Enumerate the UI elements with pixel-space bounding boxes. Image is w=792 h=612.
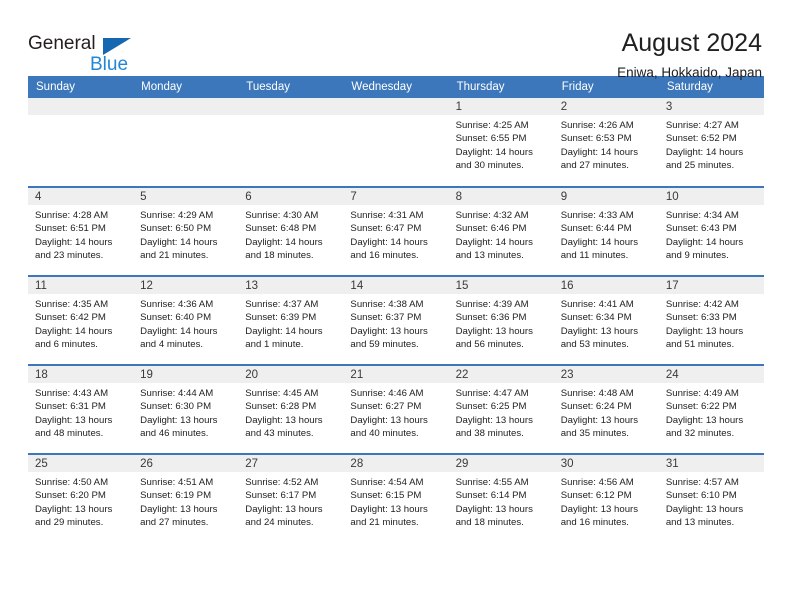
day-detail-line: Sunset: 6:30 PM bbox=[140, 400, 231, 413]
day-number: 19 bbox=[133, 366, 238, 383]
day-detail-line: Daylight: 14 hours bbox=[140, 325, 231, 338]
day-detail-line: Sunset: 6:28 PM bbox=[245, 400, 336, 413]
day-detail-line: Sunrise: 4:51 AM bbox=[140, 476, 231, 489]
day-details bbox=[238, 115, 343, 119]
day-detail-line: and 51 minutes. bbox=[666, 338, 757, 351]
day-detail-line: Sunset: 6:19 PM bbox=[140, 489, 231, 502]
day-detail-line: Daylight: 13 hours bbox=[140, 503, 231, 516]
day-number: 1 bbox=[449, 98, 554, 115]
day-detail-line: and 38 minutes. bbox=[456, 427, 547, 440]
day-detail-line: and 35 minutes. bbox=[561, 427, 652, 440]
day-details: Sunrise: 4:41 AMSunset: 6:34 PMDaylight:… bbox=[554, 294, 659, 351]
day-cell-29[interactable]: 29Sunrise: 4:55 AMSunset: 6:14 PMDayligh… bbox=[449, 454, 554, 543]
day-details: Sunrise: 4:32 AMSunset: 6:46 PMDaylight:… bbox=[449, 205, 554, 262]
day-details: Sunrise: 4:26 AMSunset: 6:53 PMDaylight:… bbox=[554, 115, 659, 172]
day-detail-line: and 27 minutes. bbox=[561, 159, 652, 172]
day-number: 26 bbox=[133, 455, 238, 472]
day-detail-line: Sunrise: 4:38 AM bbox=[350, 298, 441, 311]
day-number: 7 bbox=[343, 188, 448, 205]
day-details: Sunrise: 4:37 AMSunset: 6:39 PMDaylight:… bbox=[238, 294, 343, 351]
day-number: 25 bbox=[28, 455, 133, 472]
day-cell-4[interactable]: 4Sunrise: 4:28 AMSunset: 6:51 PMDaylight… bbox=[28, 187, 133, 276]
day-detail-line: Daylight: 13 hours bbox=[456, 325, 547, 338]
day-details: Sunrise: 4:35 AMSunset: 6:42 PMDaylight:… bbox=[28, 294, 133, 351]
day-detail-line: Sunset: 6:50 PM bbox=[140, 222, 231, 235]
day-cell-empty bbox=[133, 98, 238, 187]
day-details: Sunrise: 4:38 AMSunset: 6:37 PMDaylight:… bbox=[343, 294, 448, 351]
day-number: 6 bbox=[238, 188, 343, 205]
day-details: Sunrise: 4:25 AMSunset: 6:55 PMDaylight:… bbox=[449, 115, 554, 172]
day-detail-line: Sunrise: 4:36 AM bbox=[140, 298, 231, 311]
day-detail-line: and 21 minutes. bbox=[350, 516, 441, 529]
day-cell-31[interactable]: 31Sunrise: 4:57 AMSunset: 6:10 PMDayligh… bbox=[659, 454, 764, 543]
logo-triangle-icon bbox=[103, 38, 131, 55]
day-number: 17 bbox=[659, 277, 764, 294]
weekday-header-wednesday: Wednesday bbox=[343, 76, 448, 98]
day-number: 10 bbox=[659, 188, 764, 205]
day-detail-line: and 13 minutes. bbox=[666, 516, 757, 529]
day-details: Sunrise: 4:47 AMSunset: 6:25 PMDaylight:… bbox=[449, 383, 554, 440]
calendar-week-row: 25Sunrise: 4:50 AMSunset: 6:20 PMDayligh… bbox=[28, 454, 764, 543]
day-number: 23 bbox=[554, 366, 659, 383]
day-cell-12[interactable]: 12Sunrise: 4:36 AMSunset: 6:40 PMDayligh… bbox=[133, 276, 238, 365]
calendar-page: General Blue August 2024 Eniwa, Hokkaido… bbox=[0, 0, 792, 612]
day-detail-line: Sunset: 6:51 PM bbox=[35, 222, 126, 235]
day-cell-30[interactable]: 30Sunrise: 4:56 AMSunset: 6:12 PMDayligh… bbox=[554, 454, 659, 543]
day-detail-line: Sunset: 6:33 PM bbox=[666, 311, 757, 324]
day-detail-line: Sunrise: 4:50 AM bbox=[35, 476, 126, 489]
day-details: Sunrise: 4:39 AMSunset: 6:36 PMDaylight:… bbox=[449, 294, 554, 351]
day-detail-line: Sunrise: 4:42 AM bbox=[666, 298, 757, 311]
day-detail-line: Daylight: 14 hours bbox=[245, 325, 336, 338]
day-number: 29 bbox=[449, 455, 554, 472]
day-number: 4 bbox=[28, 188, 133, 205]
day-detail-line: Sunrise: 4:49 AM bbox=[666, 387, 757, 400]
day-cell-18[interactable]: 18Sunrise: 4:43 AMSunset: 6:31 PMDayligh… bbox=[28, 365, 133, 454]
day-detail-line: Sunset: 6:44 PM bbox=[561, 222, 652, 235]
day-details: Sunrise: 4:51 AMSunset: 6:19 PMDaylight:… bbox=[133, 472, 238, 529]
day-detail-line: Sunset: 6:42 PM bbox=[35, 311, 126, 324]
day-detail-line: Daylight: 14 hours bbox=[561, 146, 652, 159]
day-number: 11 bbox=[28, 277, 133, 294]
day-detail-line: Sunrise: 4:26 AM bbox=[561, 119, 652, 132]
day-detail-line: Sunset: 6:24 PM bbox=[561, 400, 652, 413]
day-detail-line: and 46 minutes. bbox=[140, 427, 231, 440]
day-details bbox=[28, 115, 133, 119]
day-detail-line: Sunset: 6:10 PM bbox=[666, 489, 757, 502]
day-cell-26[interactable]: 26Sunrise: 4:51 AMSunset: 6:19 PMDayligh… bbox=[133, 454, 238, 543]
day-detail-line: Daylight: 13 hours bbox=[456, 414, 547, 427]
calendar-week-row: 4Sunrise: 4:28 AMSunset: 6:51 PMDaylight… bbox=[28, 187, 764, 276]
day-detail-line: Sunrise: 4:45 AM bbox=[245, 387, 336, 400]
day-details: Sunrise: 4:52 AMSunset: 6:17 PMDaylight:… bbox=[238, 472, 343, 529]
day-detail-line: Sunset: 6:14 PM bbox=[456, 489, 547, 502]
day-detail-line: Daylight: 14 hours bbox=[561, 236, 652, 249]
day-detail-line: and 9 minutes. bbox=[666, 249, 757, 262]
day-number: 18 bbox=[28, 366, 133, 383]
day-details: Sunrise: 4:29 AMSunset: 6:50 PMDaylight:… bbox=[133, 205, 238, 262]
day-detail-line: and 40 minutes. bbox=[350, 427, 441, 440]
calendar-week-row: 18Sunrise: 4:43 AMSunset: 6:31 PMDayligh… bbox=[28, 365, 764, 454]
day-number: 8 bbox=[449, 188, 554, 205]
day-details: Sunrise: 4:50 AMSunset: 6:20 PMDaylight:… bbox=[28, 472, 133, 529]
day-cell-14[interactable]: 14Sunrise: 4:38 AMSunset: 6:37 PMDayligh… bbox=[343, 276, 448, 365]
day-number: 28 bbox=[343, 455, 448, 472]
day-cell-11[interactable]: 11Sunrise: 4:35 AMSunset: 6:42 PMDayligh… bbox=[28, 276, 133, 365]
day-detail-line: Daylight: 14 hours bbox=[245, 236, 336, 249]
day-detail-line: Sunset: 6:17 PM bbox=[245, 489, 336, 502]
day-cell-empty bbox=[238, 98, 343, 187]
day-detail-line: Daylight: 13 hours bbox=[561, 325, 652, 338]
day-details: Sunrise: 4:45 AMSunset: 6:28 PMDaylight:… bbox=[238, 383, 343, 440]
day-detail-line: Sunset: 6:46 PM bbox=[456, 222, 547, 235]
day-cell-6[interactable]: 6Sunrise: 4:30 AMSunset: 6:48 PMDaylight… bbox=[238, 187, 343, 276]
day-cell-empty bbox=[343, 98, 448, 187]
day-detail-line: Sunrise: 4:41 AM bbox=[561, 298, 652, 311]
day-detail-line: and 18 minutes. bbox=[456, 516, 547, 529]
day-cell-3[interactable]: 3Sunrise: 4:27 AMSunset: 6:52 PMDaylight… bbox=[659, 98, 764, 187]
day-number: 15 bbox=[449, 277, 554, 294]
day-detail-line: Daylight: 14 hours bbox=[666, 146, 757, 159]
day-cell-13[interactable]: 13Sunrise: 4:37 AMSunset: 6:39 PMDayligh… bbox=[238, 276, 343, 365]
day-detail-line: Sunset: 6:31 PM bbox=[35, 400, 126, 413]
day-detail-line: Daylight: 13 hours bbox=[561, 503, 652, 516]
day-detail-line: and 18 minutes. bbox=[245, 249, 336, 262]
calendar-week-row: 11Sunrise: 4:35 AMSunset: 6:42 PMDayligh… bbox=[28, 276, 764, 365]
day-number bbox=[133, 98, 238, 115]
day-cell-2[interactable]: 2Sunrise: 4:26 AMSunset: 6:53 PMDaylight… bbox=[554, 98, 659, 187]
day-cell-25[interactable]: 25Sunrise: 4:50 AMSunset: 6:20 PMDayligh… bbox=[28, 454, 133, 543]
day-detail-line: Sunset: 6:12 PM bbox=[561, 489, 652, 502]
day-detail-line: Sunset: 6:39 PM bbox=[245, 311, 336, 324]
day-cell-28[interactable]: 28Sunrise: 4:54 AMSunset: 6:15 PMDayligh… bbox=[343, 454, 448, 543]
day-cell-empty bbox=[28, 98, 133, 187]
day-detail-line: and 29 minutes. bbox=[35, 516, 126, 529]
day-detail-line: and 32 minutes. bbox=[666, 427, 757, 440]
day-detail-line: Sunrise: 4:31 AM bbox=[350, 209, 441, 222]
day-detail-line: Daylight: 13 hours bbox=[561, 414, 652, 427]
day-detail-line: Daylight: 14 hours bbox=[456, 236, 547, 249]
day-detail-line: Daylight: 13 hours bbox=[456, 503, 547, 516]
day-details: Sunrise: 4:34 AMSunset: 6:43 PMDaylight:… bbox=[659, 205, 764, 262]
day-cell-22[interactable]: 22Sunrise: 4:47 AMSunset: 6:25 PMDayligh… bbox=[449, 365, 554, 454]
day-details: Sunrise: 4:57 AMSunset: 6:10 PMDaylight:… bbox=[659, 472, 764, 529]
day-detail-line: and 6 minutes. bbox=[35, 338, 126, 351]
day-detail-line: Sunrise: 4:33 AM bbox=[561, 209, 652, 222]
day-detail-line: and 53 minutes. bbox=[561, 338, 652, 351]
calendar-container: SundayMondayTuesdayWednesdayThursdayFrid… bbox=[28, 76, 764, 543]
day-detail-line: Sunrise: 4:30 AM bbox=[245, 209, 336, 222]
page-header: General Blue August 2024 Eniwa, Hokkaido… bbox=[0, 0, 792, 76]
day-detail-line: and 4 minutes. bbox=[140, 338, 231, 351]
weekday-header-thursday: Thursday bbox=[449, 76, 554, 98]
day-number: 14 bbox=[343, 277, 448, 294]
day-detail-line: and 16 minutes. bbox=[561, 516, 652, 529]
day-number: 30 bbox=[554, 455, 659, 472]
day-detail-line: Sunrise: 4:43 AM bbox=[35, 387, 126, 400]
day-detail-line: and 30 minutes. bbox=[456, 159, 547, 172]
day-details: Sunrise: 4:44 AMSunset: 6:30 PMDaylight:… bbox=[133, 383, 238, 440]
day-number: 16 bbox=[554, 277, 659, 294]
day-detail-line: Sunset: 6:22 PM bbox=[666, 400, 757, 413]
day-details: Sunrise: 4:56 AMSunset: 6:12 PMDaylight:… bbox=[554, 472, 659, 529]
day-detail-line: Daylight: 14 hours bbox=[666, 236, 757, 249]
day-detail-line: and 21 minutes. bbox=[140, 249, 231, 262]
day-detail-line: Sunrise: 4:25 AM bbox=[456, 119, 547, 132]
day-detail-line: and 59 minutes. bbox=[350, 338, 441, 351]
day-number: 5 bbox=[133, 188, 238, 205]
day-number: 24 bbox=[659, 366, 764, 383]
day-detail-line: Sunrise: 4:39 AM bbox=[456, 298, 547, 311]
day-number bbox=[28, 98, 133, 115]
day-detail-line: Sunrise: 4:37 AM bbox=[245, 298, 336, 311]
day-details: Sunrise: 4:46 AMSunset: 6:27 PMDaylight:… bbox=[343, 383, 448, 440]
day-detail-line: and 13 minutes. bbox=[456, 249, 547, 262]
day-number: 9 bbox=[554, 188, 659, 205]
day-detail-line: Sunset: 6:48 PM bbox=[245, 222, 336, 235]
day-details bbox=[133, 115, 238, 119]
day-cell-24[interactable]: 24Sunrise: 4:49 AMSunset: 6:22 PMDayligh… bbox=[659, 365, 764, 454]
day-cell-17[interactable]: 17Sunrise: 4:42 AMSunset: 6:33 PMDayligh… bbox=[659, 276, 764, 365]
day-detail-line: Sunset: 6:43 PM bbox=[666, 222, 757, 235]
weekday-header-tuesday: Tuesday bbox=[238, 76, 343, 98]
day-detail-line: Sunset: 6:37 PM bbox=[350, 311, 441, 324]
day-detail-line: Sunset: 6:40 PM bbox=[140, 311, 231, 324]
day-detail-line: Sunset: 6:20 PM bbox=[35, 489, 126, 502]
day-details: Sunrise: 4:31 AMSunset: 6:47 PMDaylight:… bbox=[343, 205, 448, 262]
day-detail-line: Sunrise: 4:52 AM bbox=[245, 476, 336, 489]
day-detail-line: Sunset: 6:47 PM bbox=[350, 222, 441, 235]
day-details: Sunrise: 4:27 AMSunset: 6:52 PMDaylight:… bbox=[659, 115, 764, 172]
day-cell-15[interactable]: 15Sunrise: 4:39 AMSunset: 6:36 PMDayligh… bbox=[449, 276, 554, 365]
general-blue-logo[interactable]: General Blue bbox=[28, 28, 148, 78]
day-details: Sunrise: 4:43 AMSunset: 6:31 PMDaylight:… bbox=[28, 383, 133, 440]
day-cell-27[interactable]: 27Sunrise: 4:52 AMSunset: 6:17 PMDayligh… bbox=[238, 454, 343, 543]
day-cell-21[interactable]: 21Sunrise: 4:46 AMSunset: 6:27 PMDayligh… bbox=[343, 365, 448, 454]
calendar-week-row: 1Sunrise: 4:25 AMSunset: 6:55 PMDaylight… bbox=[28, 98, 764, 187]
day-number: 21 bbox=[343, 366, 448, 383]
day-detail-line: Daylight: 13 hours bbox=[140, 414, 231, 427]
day-detail-line: Sunrise: 4:46 AM bbox=[350, 387, 441, 400]
day-detail-line: Daylight: 13 hours bbox=[350, 414, 441, 427]
day-details: Sunrise: 4:30 AMSunset: 6:48 PMDaylight:… bbox=[238, 205, 343, 262]
page-title: August 2024 bbox=[617, 28, 762, 58]
day-details bbox=[343, 115, 448, 119]
day-detail-line: Daylight: 14 hours bbox=[35, 236, 126, 249]
day-detail-line: Sunset: 6:15 PM bbox=[350, 489, 441, 502]
day-detail-line: Daylight: 13 hours bbox=[350, 503, 441, 516]
day-detail-line: Sunset: 6:55 PM bbox=[456, 132, 547, 145]
day-detail-line: and 16 minutes. bbox=[350, 249, 441, 262]
day-cell-10[interactable]: 10Sunrise: 4:34 AMSunset: 6:43 PMDayligh… bbox=[659, 187, 764, 276]
day-detail-line: Sunset: 6:52 PM bbox=[666, 132, 757, 145]
day-detail-line: Daylight: 13 hours bbox=[35, 503, 126, 516]
day-detail-line: and 23 minutes. bbox=[35, 249, 126, 262]
day-details: Sunrise: 4:42 AMSunset: 6:33 PMDaylight:… bbox=[659, 294, 764, 351]
calendar-body: 1Sunrise: 4:25 AMSunset: 6:55 PMDaylight… bbox=[28, 98, 764, 543]
day-detail-line: Daylight: 13 hours bbox=[666, 414, 757, 427]
day-cell-8[interactable]: 8Sunrise: 4:32 AMSunset: 6:46 PMDaylight… bbox=[449, 187, 554, 276]
page-subtitle: Eniwa, Hokkaido, Japan bbox=[617, 64, 762, 82]
day-detail-line: Sunset: 6:25 PM bbox=[456, 400, 547, 413]
day-detail-line: Sunset: 6:34 PM bbox=[561, 311, 652, 324]
day-number bbox=[238, 98, 343, 115]
day-cell-19[interactable]: 19Sunrise: 4:44 AMSunset: 6:30 PMDayligh… bbox=[133, 365, 238, 454]
day-cell-7[interactable]: 7Sunrise: 4:31 AMSunset: 6:47 PMDaylight… bbox=[343, 187, 448, 276]
weekday-header-sunday: Sunday bbox=[28, 76, 133, 98]
day-detail-line: Sunrise: 4:27 AM bbox=[666, 119, 757, 132]
day-detail-line: Daylight: 13 hours bbox=[245, 503, 336, 516]
day-detail-line: Daylight: 13 hours bbox=[666, 325, 757, 338]
day-number: 20 bbox=[238, 366, 343, 383]
day-detail-line: Daylight: 13 hours bbox=[666, 503, 757, 516]
day-detail-line: and 56 minutes. bbox=[456, 338, 547, 351]
day-number: 22 bbox=[449, 366, 554, 383]
day-detail-line: Daylight: 14 hours bbox=[456, 146, 547, 159]
day-number bbox=[343, 98, 448, 115]
day-detail-line: Sunrise: 4:57 AM bbox=[666, 476, 757, 489]
day-detail-line: and 27 minutes. bbox=[140, 516, 231, 529]
day-detail-line: Sunrise: 4:47 AM bbox=[456, 387, 547, 400]
day-detail-line: Daylight: 13 hours bbox=[350, 325, 441, 338]
day-detail-line: Daylight: 14 hours bbox=[350, 236, 441, 249]
day-detail-line: and 11 minutes. bbox=[561, 249, 652, 262]
day-number: 27 bbox=[238, 455, 343, 472]
day-number: 12 bbox=[133, 277, 238, 294]
day-detail-line: Sunrise: 4:56 AM bbox=[561, 476, 652, 489]
day-detail-line: Sunset: 6:36 PM bbox=[456, 311, 547, 324]
day-details: Sunrise: 4:49 AMSunset: 6:22 PMDaylight:… bbox=[659, 383, 764, 440]
day-details: Sunrise: 4:28 AMSunset: 6:51 PMDaylight:… bbox=[28, 205, 133, 262]
day-detail-line: Sunrise: 4:48 AM bbox=[561, 387, 652, 400]
logo-text-blue: Blue bbox=[90, 55, 148, 75]
day-detail-line: and 43 minutes. bbox=[245, 427, 336, 440]
day-detail-line: Sunrise: 4:44 AM bbox=[140, 387, 231, 400]
logo-text-general: General bbox=[28, 34, 96, 54]
day-detail-line: Sunrise: 4:28 AM bbox=[35, 209, 126, 222]
day-detail-line: Daylight: 14 hours bbox=[35, 325, 126, 338]
day-details: Sunrise: 4:48 AMSunset: 6:24 PMDaylight:… bbox=[554, 383, 659, 440]
day-details: Sunrise: 4:33 AMSunset: 6:44 PMDaylight:… bbox=[554, 205, 659, 262]
day-detail-line: Sunrise: 4:29 AM bbox=[140, 209, 231, 222]
day-details: Sunrise: 4:55 AMSunset: 6:14 PMDaylight:… bbox=[449, 472, 554, 529]
day-detail-line: and 48 minutes. bbox=[35, 427, 126, 440]
day-detail-line: and 24 minutes. bbox=[245, 516, 336, 529]
day-cell-16[interactable]: 16Sunrise: 4:41 AMSunset: 6:34 PMDayligh… bbox=[554, 276, 659, 365]
day-detail-line: Sunrise: 4:54 AM bbox=[350, 476, 441, 489]
day-detail-line: Sunrise: 4:55 AM bbox=[456, 476, 547, 489]
day-detail-line: Sunrise: 4:32 AM bbox=[456, 209, 547, 222]
day-cell-20[interactable]: 20Sunrise: 4:45 AMSunset: 6:28 PMDayligh… bbox=[238, 365, 343, 454]
day-detail-line: Sunset: 6:27 PM bbox=[350, 400, 441, 413]
day-detail-line: Sunrise: 4:34 AM bbox=[666, 209, 757, 222]
day-number: 2 bbox=[554, 98, 659, 115]
day-cell-23[interactable]: 23Sunrise: 4:48 AMSunset: 6:24 PMDayligh… bbox=[554, 365, 659, 454]
day-details: Sunrise: 4:54 AMSunset: 6:15 PMDaylight:… bbox=[343, 472, 448, 529]
day-number: 31 bbox=[659, 455, 764, 472]
day-detail-line: Daylight: 14 hours bbox=[140, 236, 231, 249]
day-details: Sunrise: 4:36 AMSunset: 6:40 PMDaylight:… bbox=[133, 294, 238, 351]
day-number: 13 bbox=[238, 277, 343, 294]
day-detail-line: Daylight: 13 hours bbox=[245, 414, 336, 427]
day-cell-9[interactable]: 9Sunrise: 4:33 AMSunset: 6:44 PMDaylight… bbox=[554, 187, 659, 276]
day-detail-line: and 1 minute. bbox=[245, 338, 336, 351]
day-detail-line: Sunrise: 4:35 AM bbox=[35, 298, 126, 311]
day-cell-5[interactable]: 5Sunrise: 4:29 AMSunset: 6:50 PMDaylight… bbox=[133, 187, 238, 276]
calendar-table: SundayMondayTuesdayWednesdayThursdayFrid… bbox=[28, 76, 764, 543]
day-detail-line: Daylight: 13 hours bbox=[35, 414, 126, 427]
day-detail-line: Sunset: 6:53 PM bbox=[561, 132, 652, 145]
day-detail-line: and 25 minutes. bbox=[666, 159, 757, 172]
day-number: 3 bbox=[659, 98, 764, 115]
day-cell-1[interactable]: 1Sunrise: 4:25 AMSunset: 6:55 PMDaylight… bbox=[449, 98, 554, 187]
weekday-header-monday: Monday bbox=[133, 76, 238, 98]
title-block: August 2024 Eniwa, Hokkaido, Japan bbox=[617, 28, 764, 82]
